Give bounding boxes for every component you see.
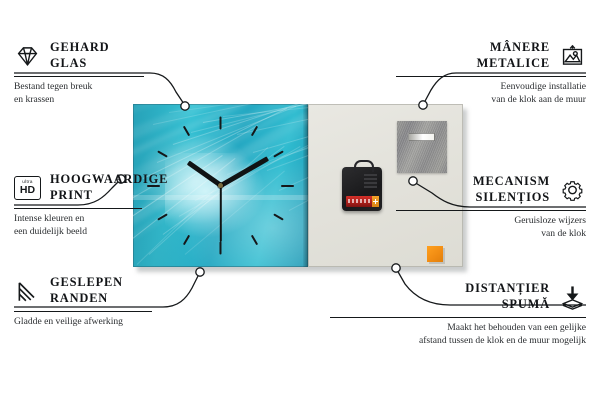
callout-rule xyxy=(330,317,586,318)
hour-tick xyxy=(157,150,168,157)
callout-header: MECANISM SILENȚIOS xyxy=(396,174,586,205)
diamond-icon xyxy=(14,43,41,69)
callout-header: DISTANȚIER SPUMĂ xyxy=(330,281,586,312)
callout-subtitle: Eenvoudige installatie van de klok aan d… xyxy=(396,81,586,107)
hanger-slot xyxy=(408,133,435,141)
battery-label xyxy=(348,199,370,203)
callout-header: GEHARD GLAS xyxy=(14,40,204,71)
hour-tick xyxy=(274,150,285,157)
minute-hand xyxy=(219,156,268,187)
clock-mechanism xyxy=(342,167,382,211)
callout-title: MÂNERE METALICE xyxy=(477,40,550,71)
callout-rule xyxy=(14,76,144,77)
callout-subtitle: Maakt het behouden van een gelijke afsta… xyxy=(330,322,586,348)
foam-spacer xyxy=(427,246,443,262)
hour-tick xyxy=(251,235,258,246)
hanger-plate xyxy=(397,121,447,173)
gear-icon xyxy=(559,177,586,203)
hour-tick xyxy=(220,116,222,129)
battery-plus-terminal xyxy=(372,196,379,207)
badge-hd-text: HD xyxy=(20,185,35,196)
callout-subtitle: Gladde en veilige afwerking xyxy=(14,316,204,329)
hour-tick xyxy=(183,126,190,137)
beveled-edges-icon xyxy=(14,278,41,304)
callout-subtitle: Intense kleuren en een duidelijk beeld xyxy=(14,213,204,239)
callout-subtitle: Bestand tegen breuk en krassen xyxy=(14,81,204,107)
metal-grain xyxy=(397,121,447,173)
callout-title: GEHARD GLAS xyxy=(50,40,110,71)
callout-hoogwaardige-print: ultra HD HOOGWAARDIGE PRINT Intense kleu… xyxy=(14,172,204,239)
callout-subtitle: Geruisloze wijzers van de klok xyxy=(396,215,586,241)
callout-geslepen-randen: GESLEPEN RANDEN Gladde en veilige afwerk… xyxy=(14,275,204,329)
callout-title: HOOGWAARDIGE PRINT xyxy=(50,172,168,203)
callout-title: DISTANȚIER SPUMĂ xyxy=(465,281,550,312)
hour-tick xyxy=(251,126,258,137)
callout-rule xyxy=(14,311,152,312)
callout-title: MECANISM SILENȚIOS xyxy=(473,174,550,205)
callout-rule xyxy=(396,210,586,211)
hanging-frame-icon xyxy=(559,43,586,69)
callout-header: ultra HD HOOGWAARDIGE PRINT xyxy=(14,172,204,203)
spacer-arrow-icon xyxy=(559,284,586,310)
callout-title: GESLEPEN RANDEN xyxy=(50,275,123,306)
ultra-hd-badge-icon: ultra HD xyxy=(14,176,41,200)
callout-gehard-glas: GEHARD GLAS Bestand tegen breuk en krass… xyxy=(14,40,204,107)
callout-header: GESLEPEN RANDEN xyxy=(14,275,204,306)
hand-hub xyxy=(218,183,223,188)
hanging-loop xyxy=(354,160,374,172)
callout-mecanism-silentios: MECANISM SILENȚIOS Geruisloze wijzers va… xyxy=(396,174,586,241)
callout-rule xyxy=(396,76,586,77)
battery xyxy=(346,196,378,207)
mechanism-vent xyxy=(364,174,377,188)
hour-tick xyxy=(281,185,294,187)
callout-header: MÂNERE METALICE xyxy=(396,40,586,71)
second-hand xyxy=(220,185,222,241)
hour-tick xyxy=(274,213,285,220)
hour-tick xyxy=(220,242,222,255)
callout-distantier-spuma: DISTANȚIER SPUMĂ Maakt het behouden van … xyxy=(330,281,586,348)
callout-manere-metalice: MÂNERE METALICE Eenvoudige installatie v… xyxy=(396,40,586,107)
infographic-canvas: GEHARD GLAS Bestand tegen breuk en krass… xyxy=(0,0,600,400)
callout-rule xyxy=(14,208,142,209)
